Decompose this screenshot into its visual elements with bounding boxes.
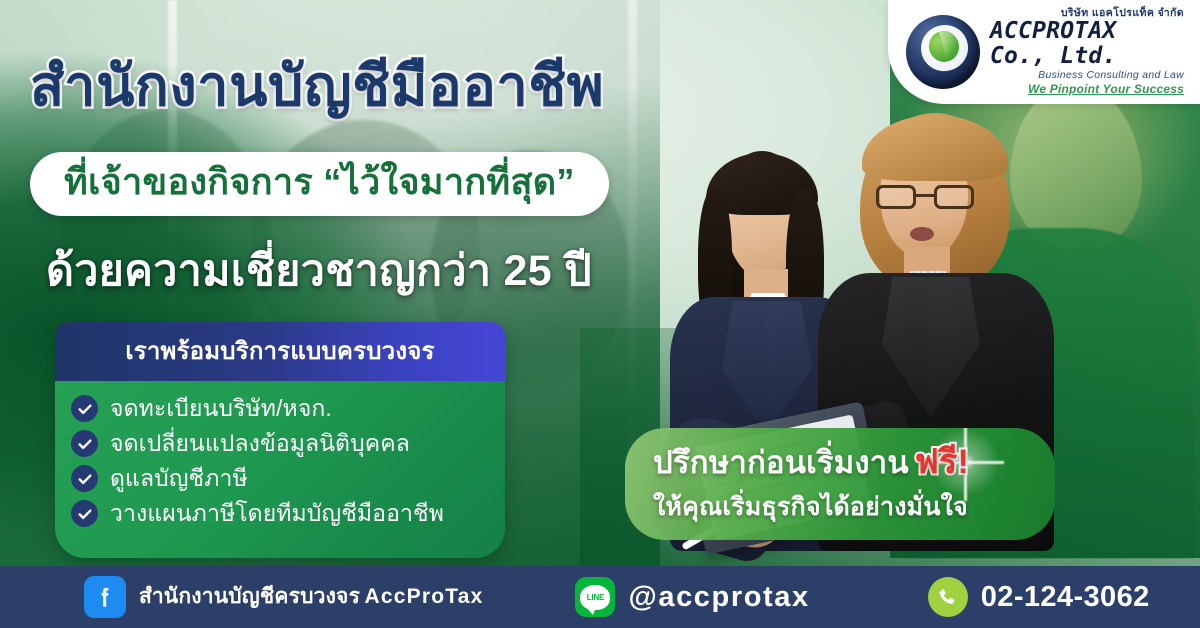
services-list: จดทะเบียนบริษัท/หจก. จดเปลี่ยนแปลงข้อมูล…	[55, 381, 505, 558]
check-icon	[71, 465, 98, 492]
line-contact[interactable]: LINE @accprotax	[575, 577, 809, 617]
list-item-label: จดเปลี่ยนแปลงข้อมูลนิติบุคคล	[110, 430, 410, 457]
services-card: เราพร้อมบริการแบบครบวงจร จดทะเบียนบริษัท…	[55, 322, 505, 558]
check-icon	[71, 500, 98, 527]
company-logo-panel[interactable]: บริษัท แอคโปรแท็ค จำกัด ACCPROTAX Co., L…	[888, 0, 1200, 104]
list-item: วางแผนภาษีโดยทีมบัญชีมืออาชีพ	[71, 500, 489, 527]
trust-pill: ที่เจ้าของกิจการ “ไว้ใจมากที่สุด”	[30, 152, 609, 216]
logo-subtitle: Business Consulting and Law	[1038, 70, 1184, 81]
trust-pill-text: ที่เจ้าของกิจการ “ไว้ใจมากที่สุด”	[64, 162, 575, 202]
page-title: สำนักงานบัญชีมืออาชีพ	[30, 58, 604, 114]
woman-right-fringe	[862, 115, 1008, 181]
facebook-text: สำนักงานบัญชีครบวงจร AccProTax	[139, 585, 483, 609]
cta-line-2: ให้คุณเริ่มธุรกิจได้อย่างมั่นใจ	[653, 487, 1027, 527]
facebook-icon[interactable]	[84, 576, 126, 618]
list-item-label: วางแผนภาษีโดยทีมบัญชีมืออาชีพ	[110, 500, 444, 527]
check-icon	[71, 430, 98, 457]
line-badge-label: LINE	[587, 593, 604, 602]
services-card-header: เราพร้อมบริการแบบครบวงจร	[55, 322, 505, 381]
logo-text-block: บริษัท แอคโปรแท็ค จำกัด ACCPROTAX Co., L…	[990, 8, 1184, 96]
list-item-label: ดูแลบัญชีภาษี	[110, 465, 248, 492]
woman-right-mouth	[910, 227, 934, 241]
logo-company-name: ACCPROTAX Co., Ltd.	[990, 19, 1184, 69]
facebook-page-name: สำนักงานบัญชีครบวงจร	[139, 585, 360, 608]
cta-line-1: ปรึกษาก่อนเริ่มงานฟรี!	[653, 442, 1027, 483]
free-consultation-cta[interactable]: ปรึกษาก่อนเริ่มงานฟรี! ให้คุณเริ่มธุรกิจ…	[625, 428, 1055, 540]
logo-tagline: We Pinpoint Your Success	[1028, 83, 1184, 96]
facebook-contact[interactable]: สำนักงานบัญชีครบวงจร AccProTax	[84, 576, 483, 618]
line-icon[interactable]: LINE	[575, 577, 615, 617]
line-handle: @accprotax	[628, 581, 809, 614]
cta-free-badge: ฟรี!	[915, 443, 969, 481]
list-item: จดเปลี่ยนแปลงข้อมูลนิติบุคคล	[71, 430, 489, 457]
sphere-leaf-logo-icon	[906, 15, 980, 89]
phone-contact[interactable]: 02-124-3062	[928, 577, 1150, 617]
list-item-label: จดทะเบียนบริษัท/หจก.	[110, 395, 332, 422]
promo-banner: บริษัท แอคโปรแท็ค จำกัด ACCPROTAX Co., L…	[0, 0, 1200, 628]
phone-number: 02-124-3062	[981, 581, 1150, 614]
contact-footer: สำนักงานบัญชีครบวงจร AccProTax LINE @acc…	[0, 566, 1200, 628]
experience-subline: ด้วยความเชี่ยวชาญกว่า 25 ปี	[46, 250, 592, 293]
eyeglasses-icon	[876, 185, 974, 209]
cta-line-1-prefix: ปรึกษาก่อนเริ่มงาน	[653, 445, 909, 480]
list-item: จดทะเบียนบริษัท/หจก.	[71, 395, 489, 422]
services-header-label: เราพร้อมบริการแบบครบวงจร	[125, 338, 434, 365]
facebook-handle: AccProTax	[365, 585, 484, 608]
phone-icon[interactable]	[928, 577, 968, 617]
list-item: ดูแลบัญชีภาษี	[71, 465, 489, 492]
check-icon	[71, 395, 98, 422]
